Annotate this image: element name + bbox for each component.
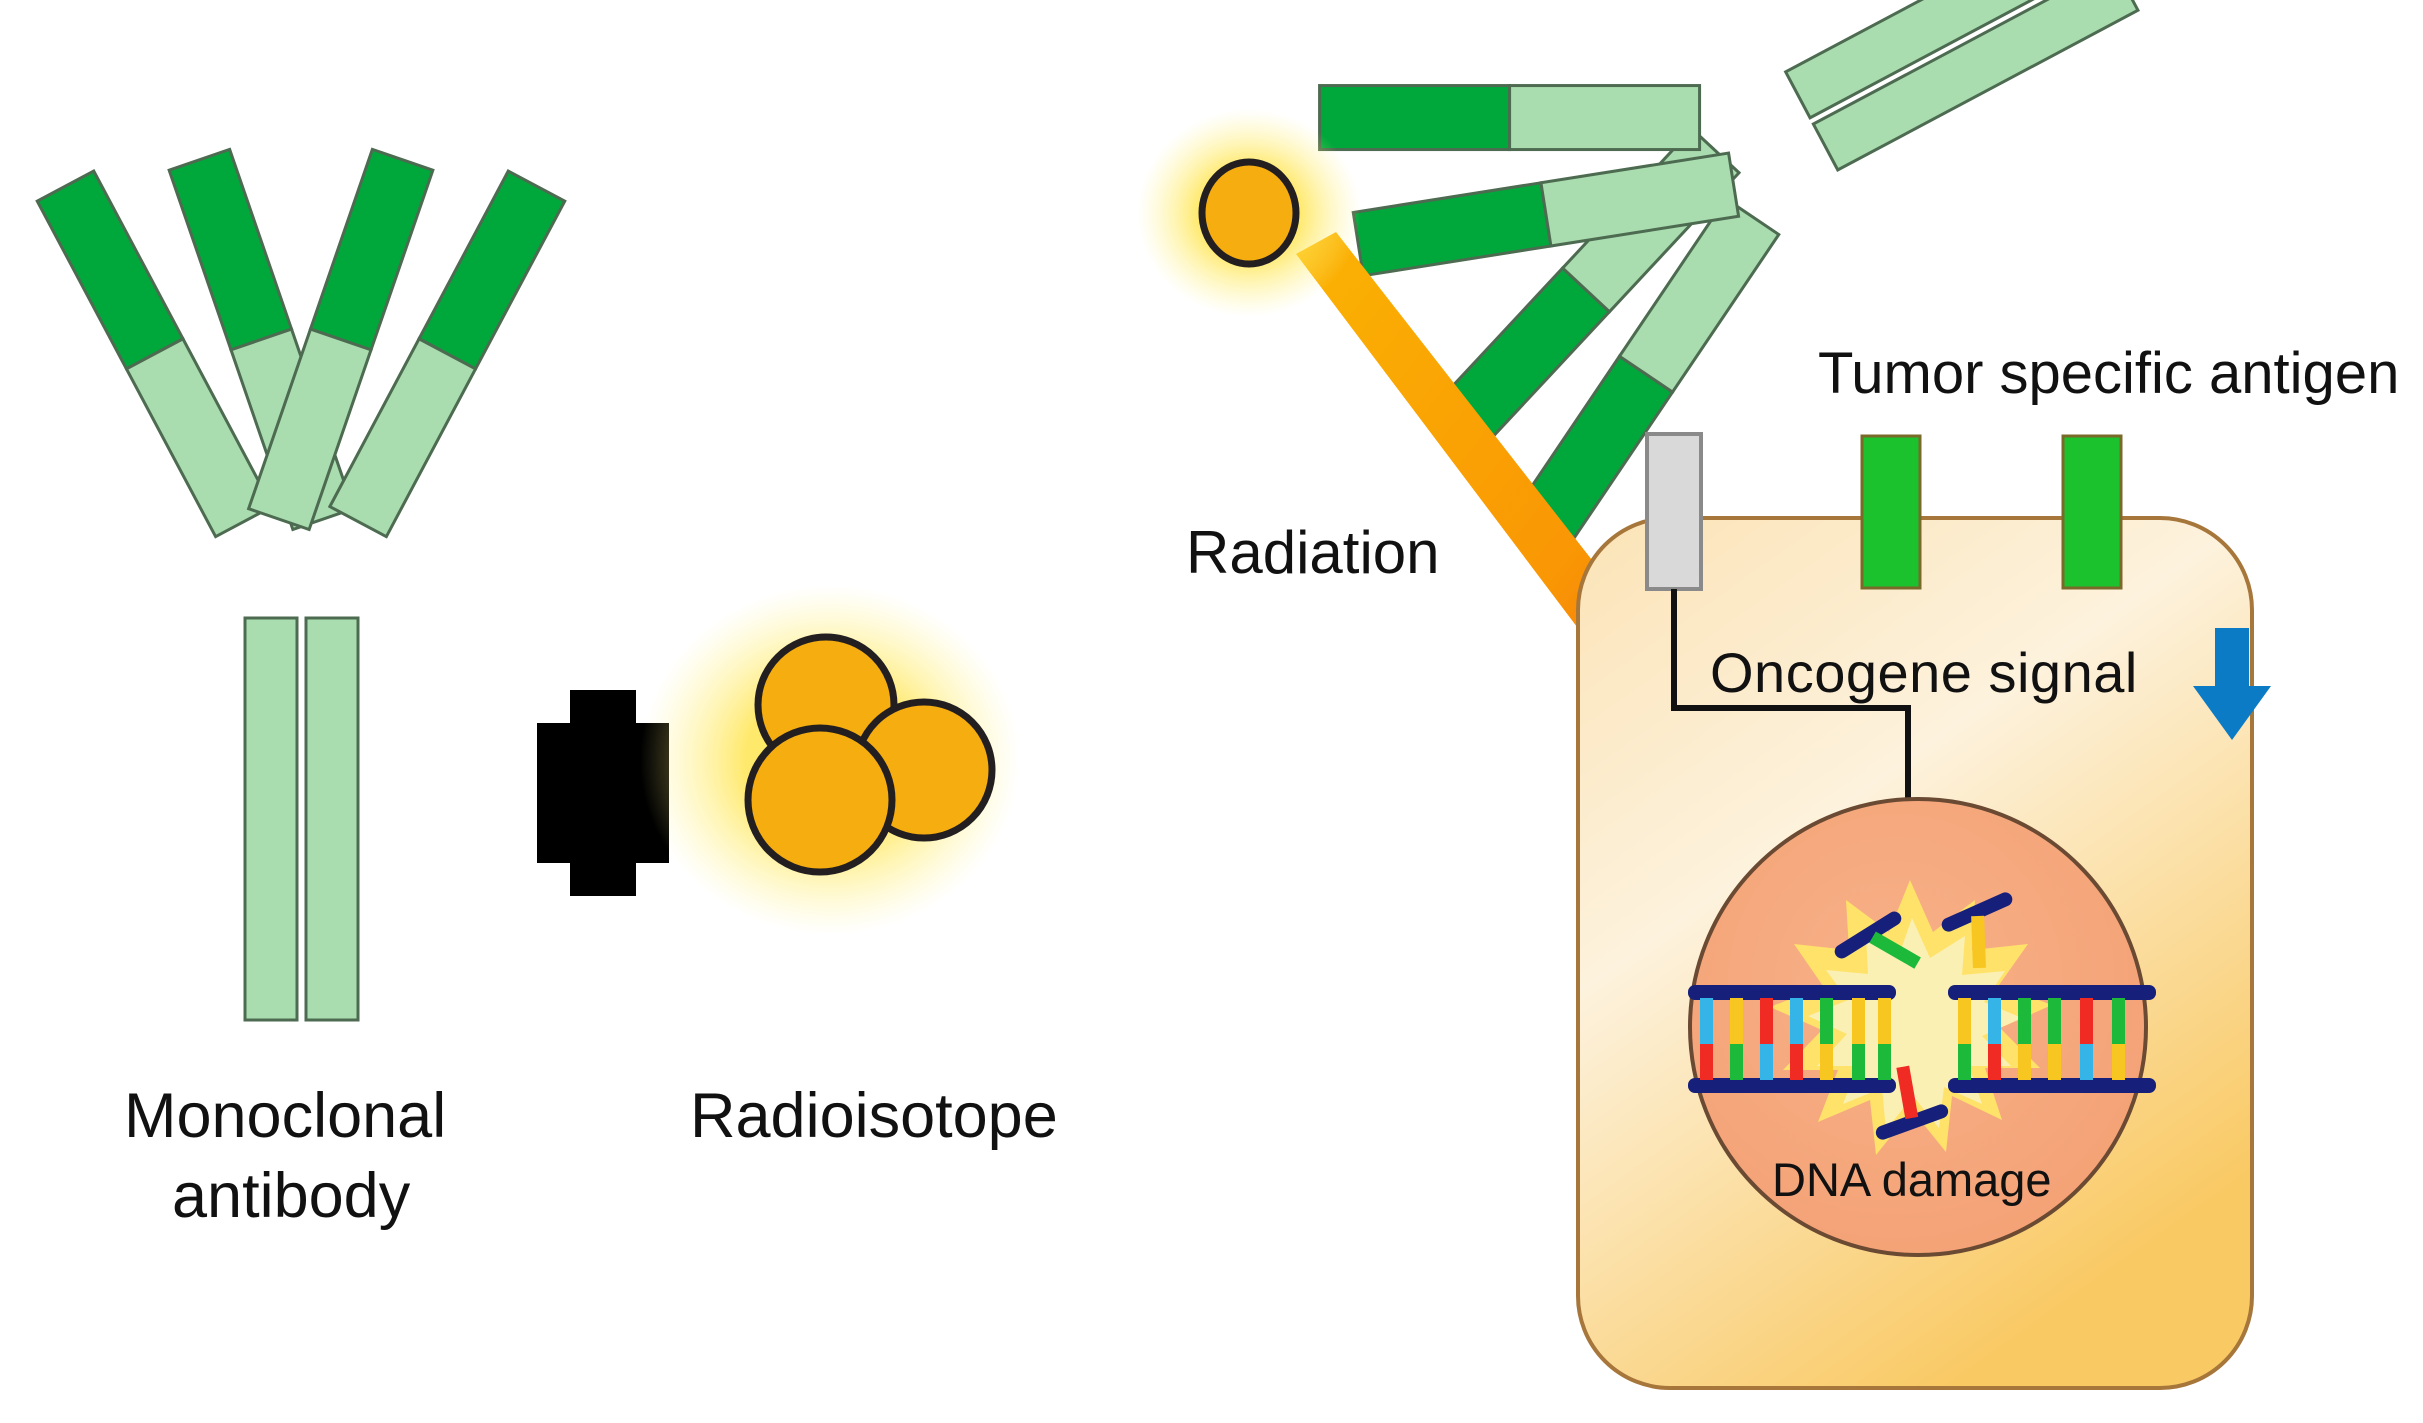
radioisotope-particle-cluster-icon xyxy=(640,585,1020,935)
tumor-antigen-icon xyxy=(2063,436,2121,588)
monoclonal-antibody-label-line1: Monoclonal xyxy=(124,1080,446,1152)
monoclonal-antibody xyxy=(37,149,565,1020)
fc-stem-left xyxy=(245,618,297,1020)
radioisotope-label: Radioisotope xyxy=(690,1080,1058,1152)
fc-stem-right xyxy=(306,618,358,1020)
dna-damage-label: DNA damage xyxy=(1772,1152,2052,1207)
gray-receptor-icon xyxy=(1647,434,1701,589)
oncogene-signal-label: Oncogene signal xyxy=(1710,640,2138,705)
tumor-specific-antigen-label: Tumor specific antigen xyxy=(1818,340,2399,407)
radiation-label: Radiation xyxy=(1186,518,1440,587)
monoclonal-antibody-label-line2: antibody xyxy=(172,1160,410,1232)
tumor-antigen-icon xyxy=(1862,436,1920,588)
diagram-canvas: Monoclonal antibody Radioisotope Radiati… xyxy=(0,0,2423,1423)
conjugated-isotope-icon xyxy=(1137,109,1361,317)
